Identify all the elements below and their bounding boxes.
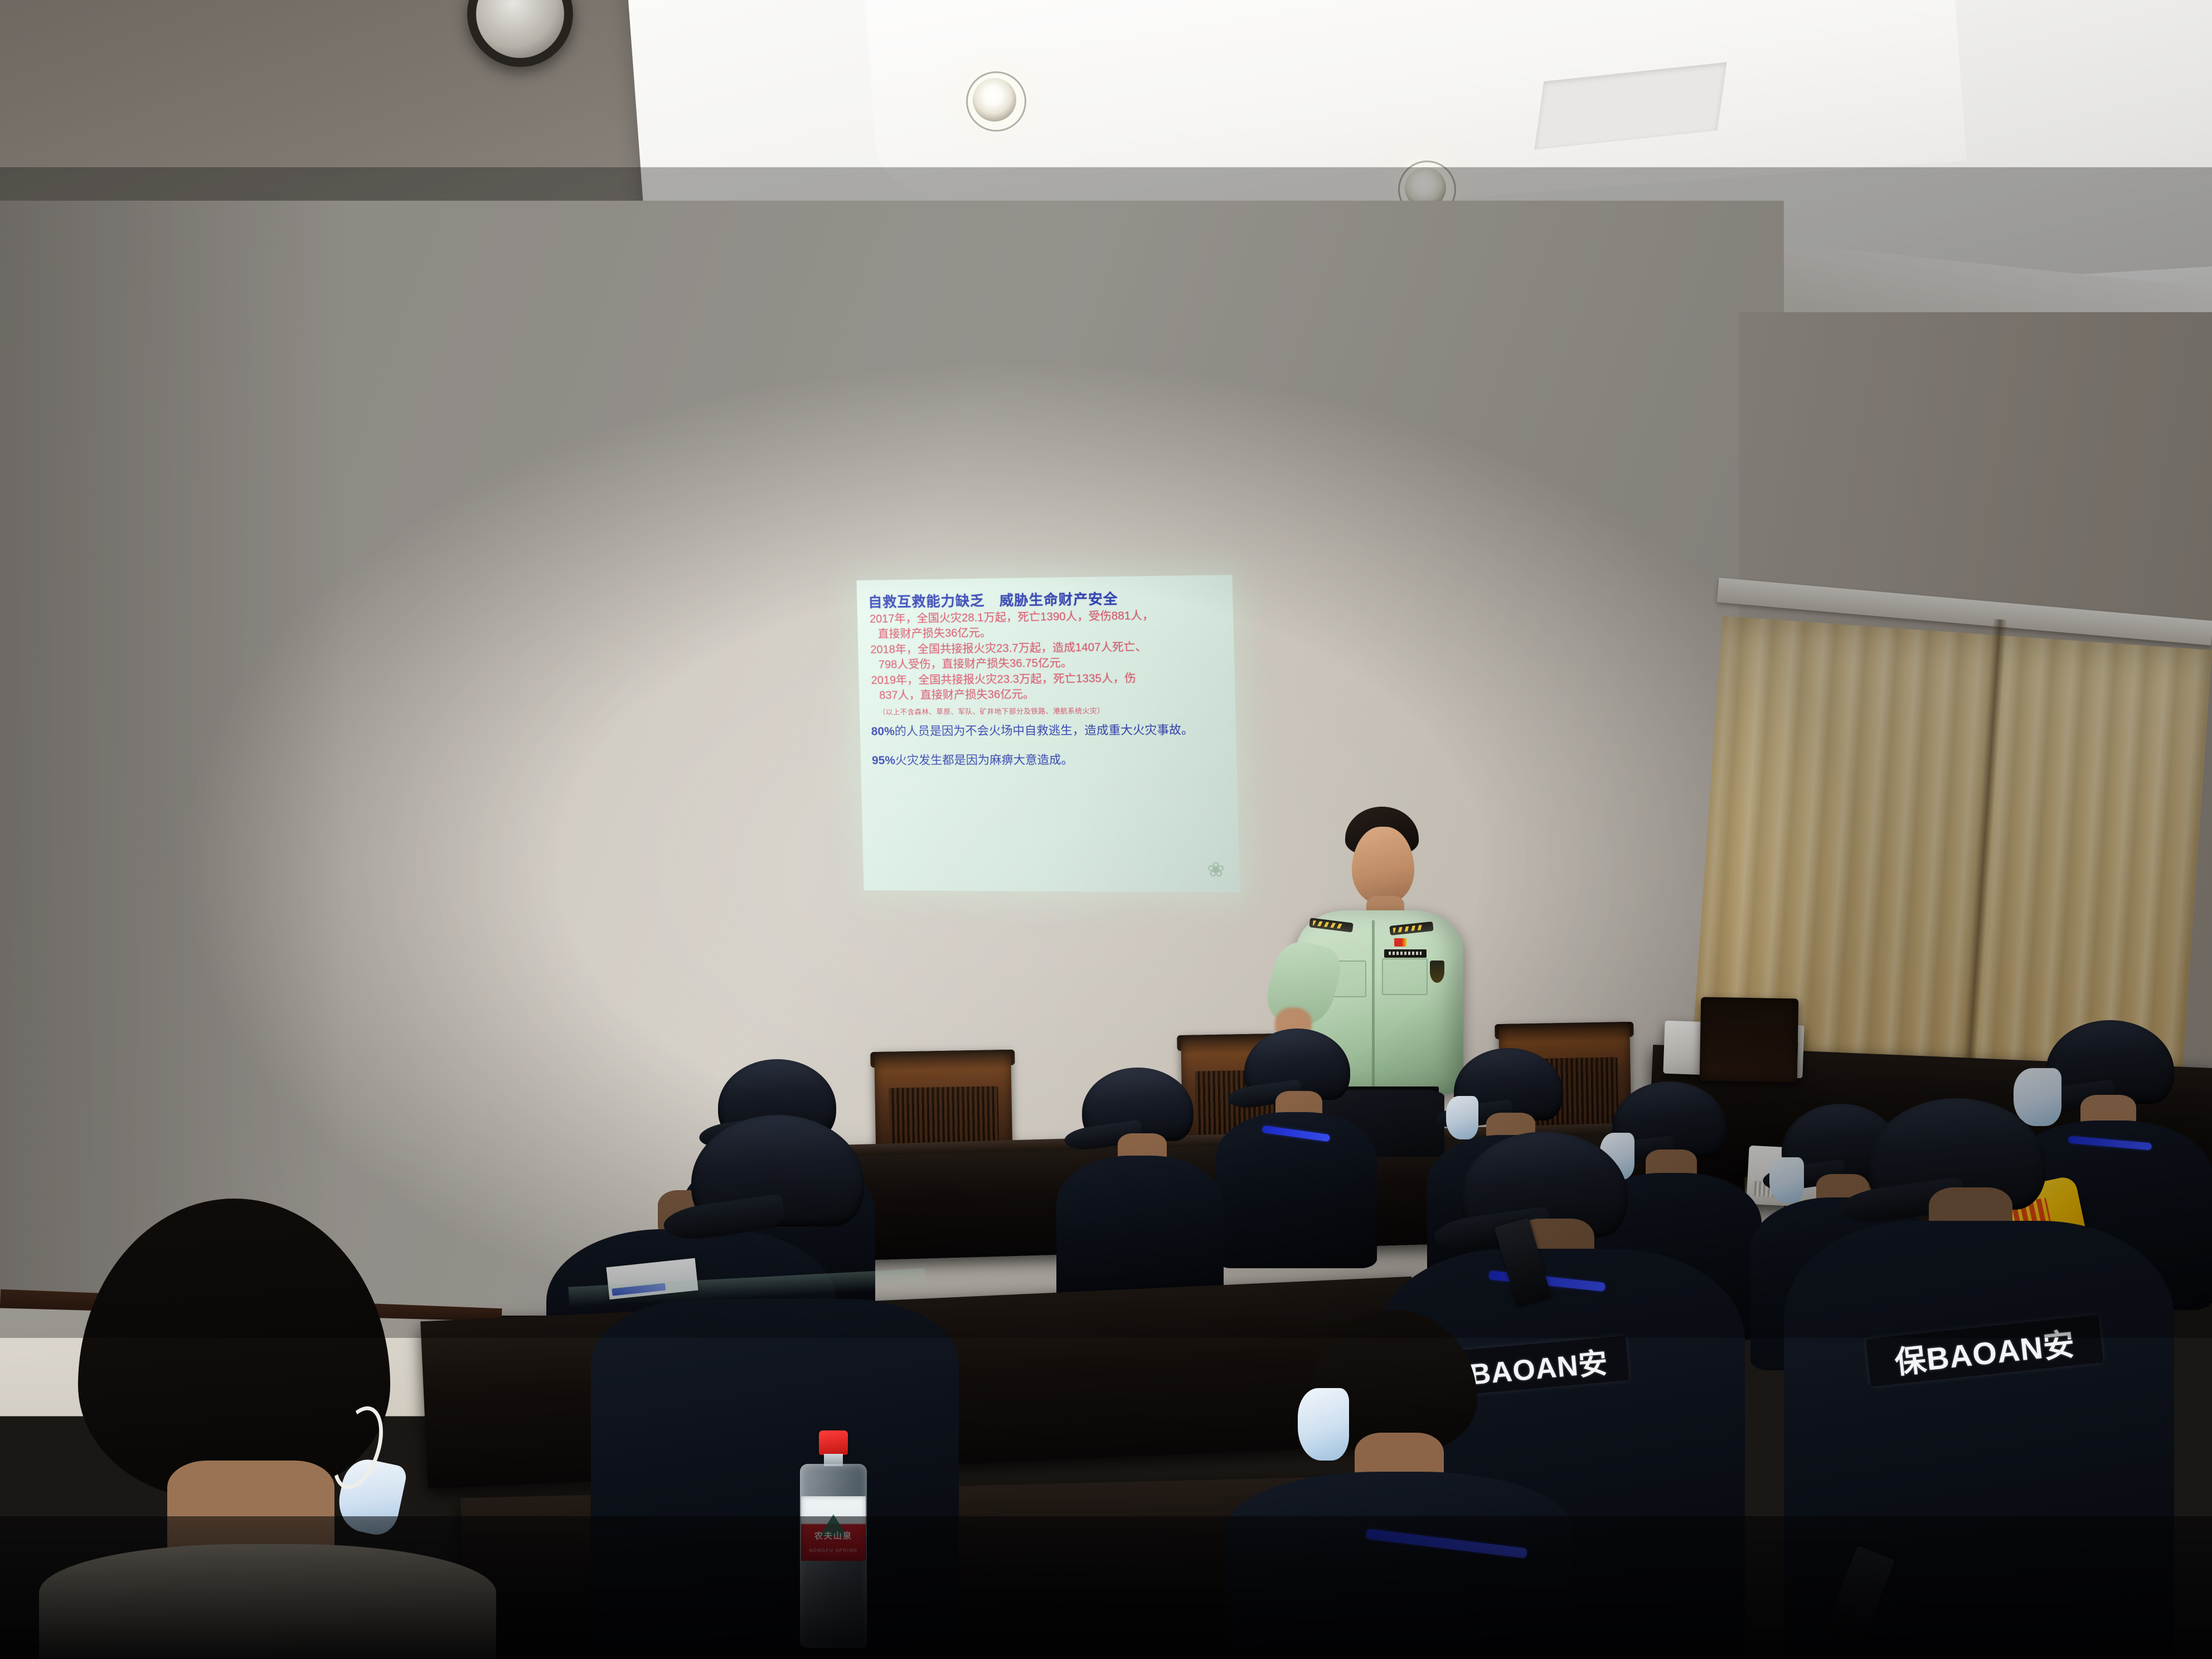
downlight-ring-1 (966, 71, 1026, 132)
classroom-scene: 自救互救能力缺乏威胁生命财产安全 2017年，全国火灾28.1万起，死亡1390… (0, 0, 2212, 1659)
bottle-cap (819, 1430, 848, 1455)
scene-vignette (0, 167, 2212, 1338)
face-mask-icon (1298, 1388, 1349, 1461)
foreground-shadow (0, 1516, 2212, 1659)
